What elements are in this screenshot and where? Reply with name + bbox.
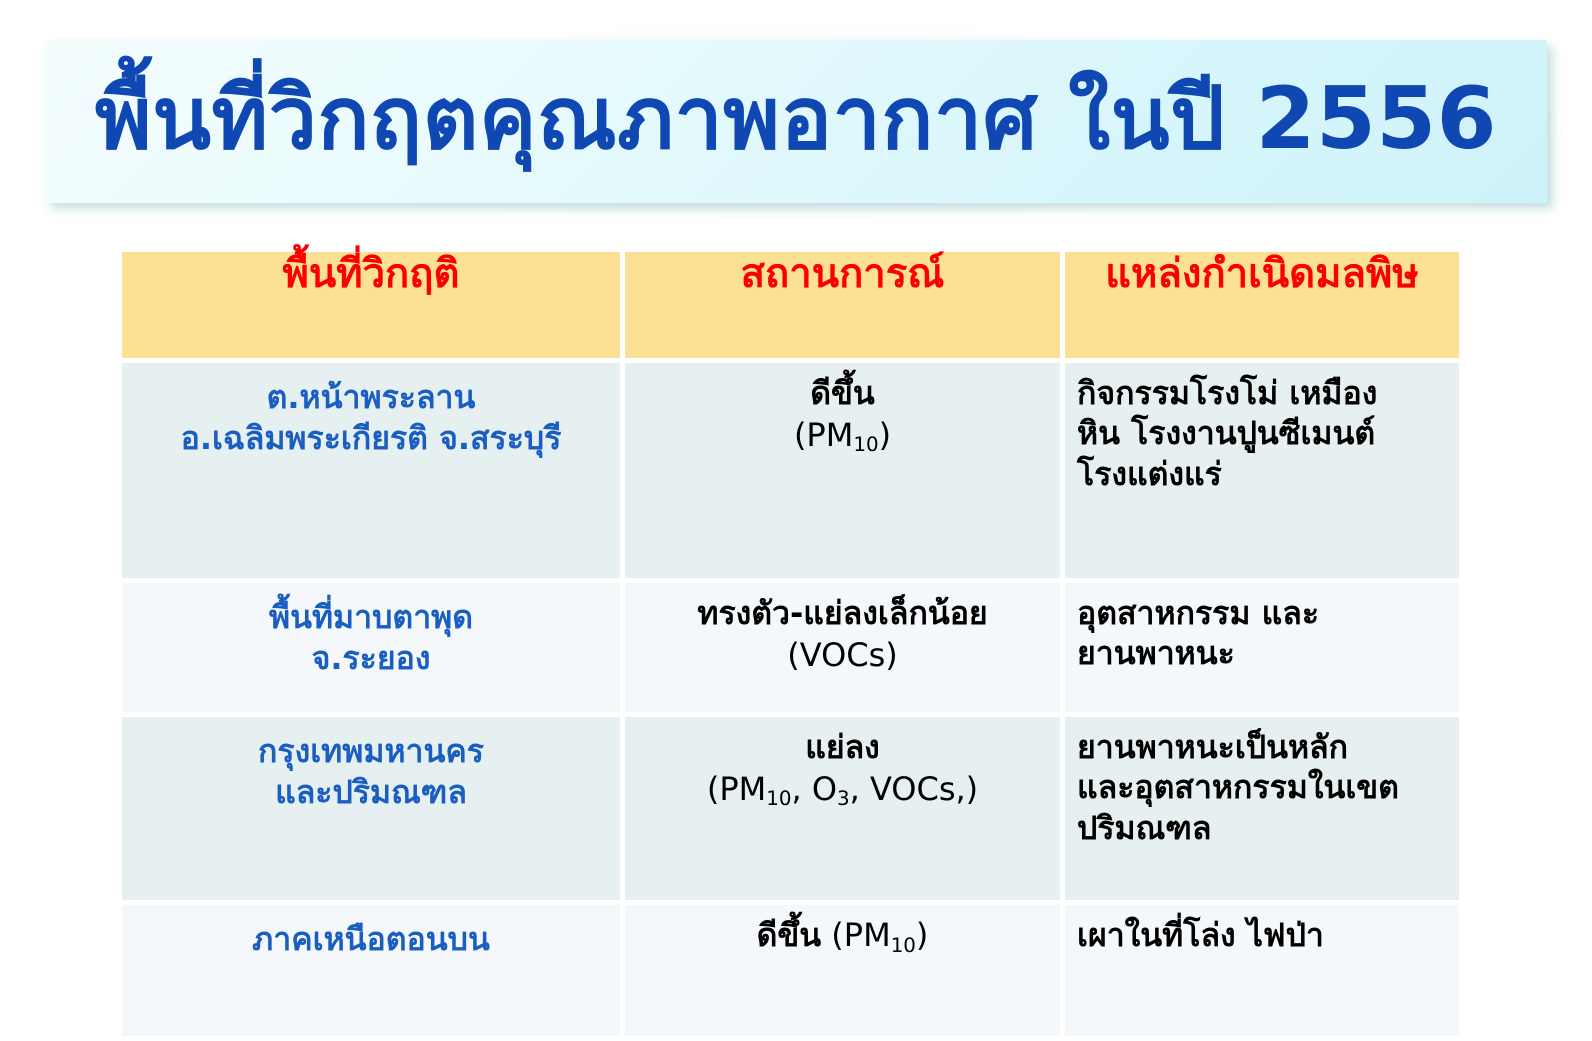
cell-area: กรุงเทพมหานคร และปริมณฑล (122, 717, 625, 905)
status-pollutant: (PM10) (821, 916, 928, 954)
cell-source: กิจกรรมโรงโม่ เหมือง หิน โรงงานปูนซีเมนต… (1065, 363, 1459, 583)
column-header-source: แหล่งกำเนิดมลพิษ (1065, 252, 1459, 363)
table-row: ต.หน้าพระลาน อ.เฉลิมพระเกียรติ จ.สระบุรี… (122, 363, 1459, 583)
pollutant-suffix: ) (879, 416, 891, 454)
pollutant-suffix: , O (791, 770, 837, 808)
page-title: พื้นที่วิกฤตคุณภาพอากาศ ในปี 2556 (95, 76, 1497, 168)
column-header-area-label: พื้นที่วิกฤติ (122, 252, 620, 296)
status-text: แย่ลง (PM10, O3, VOCs,) (625, 717, 1060, 810)
cell-status: ดีขึ้น (PM10) (625, 363, 1065, 583)
cell-area: ต.หน้าพระลาน อ.เฉลิมพระเกียรติ จ.สระบุรี (122, 363, 625, 583)
area-text: ต.หน้าพระลาน อ.เฉลิมพระเกียรติ จ.สระบุรี (122, 363, 620, 459)
table-row: พื้นที่มาบตาพุด จ.ระยอง ทรงตัว-แย่ลงเล็ก… (122, 583, 1459, 717)
column-header-area: พื้นที่วิกฤติ (122, 252, 625, 363)
source-line: และอุตสาหกรรมในเขต (1077, 767, 1447, 807)
pollutant-suffix: , VOCs,) (850, 770, 979, 808)
area-text: พื้นที่มาบตาพุด จ.ระยอง (122, 583, 620, 679)
area-line: พื้นที่มาบตาพุด (132, 597, 610, 638)
area-text: กรุงเทพมหานคร และปริมณฑล (122, 717, 620, 813)
cell-source: อุตสาหกรรม และ ยานพาหนะ (1065, 583, 1459, 717)
column-header-source-label: แหล่งกำเนิดมลพิษ (1065, 252, 1459, 296)
cell-area: พื้นที่มาบตาพุด จ.ระยอง (122, 583, 625, 717)
status-pollutant: (PM10) (635, 415, 1050, 457)
area-line: ต.หน้าพระลาน (132, 377, 610, 418)
cell-status: ดีขึ้น (PM10) (625, 905, 1065, 1041)
status-text: ดีขึ้น (PM10) (625, 363, 1060, 456)
cell-status: ทรงตัว-แย่ลงเล็กน้อย (VOCs) (625, 583, 1065, 717)
table-row: กรุงเทพมหานคร และปริมณฑล แย่ลง (PM10, O3… (122, 717, 1459, 905)
source-line: ยานพาหนะ (1077, 633, 1447, 673)
pollutant-subscript: 10 (766, 787, 791, 810)
source-text: กิจกรรมโรงโม่ เหมือง หิน โรงงานปูนซีเมนต… (1065, 363, 1459, 494)
table-header-row: พื้นที่วิกฤติ สถานการณ์ แหล่งกำเนิดมลพิษ (122, 252, 1459, 363)
source-text: อุตสาหกรรม และ ยานพาหนะ (1065, 583, 1459, 674)
area-line: ภาคเหนือตอนบน (132, 919, 610, 960)
pollutant-suffix: ) (916, 916, 928, 954)
column-header-status: สถานการณ์ (625, 252, 1065, 363)
cell-source: เผาในที่โล่ง ไฟป่า (1065, 905, 1459, 1041)
source-line: เผาในที่โล่ง ไฟป่า (1077, 915, 1447, 955)
area-line: กรุงเทพมหานคร (132, 731, 610, 772)
status-text: ทรงตัว-แย่ลงเล็กน้อย (VOCs) (625, 583, 1060, 676)
status-pollutant: (PM10, O3, VOCs,) (635, 769, 1050, 811)
pollutant-subscript: 10 (891, 934, 916, 957)
pollutant-prefix: (PM (821, 916, 891, 954)
pollutant-subscript: 10 (853, 433, 878, 456)
area-line: จ.ระยอง (132, 638, 610, 679)
area-line: อ.เฉลิมพระเกียรติ จ.สระบุรี (132, 418, 610, 459)
source-line: โรงแต่งแร่ (1077, 454, 1447, 494)
source-line: อุตสาหกรรม และ (1077, 593, 1447, 633)
table-body: ต.หน้าพระลาน อ.เฉลิมพระเกียรติ จ.สระบุรี… (122, 363, 1459, 1041)
source-line: กิจกรรมโรงโม่ เหมือง (1077, 373, 1447, 413)
title-box: พื้นที่วิกฤตคุณภาพอากาศ ในปี 2556 (45, 40, 1547, 203)
status-trend: ทรงตัว-แย่ลงเล็กน้อย (635, 593, 1050, 635)
cell-status: แย่ลง (PM10, O3, VOCs,) (625, 717, 1065, 905)
status-trend: ดีขึ้น (635, 373, 1050, 415)
column-header-status-label: สถานการณ์ (625, 252, 1060, 296)
area-line: และปริมณฑล (132, 772, 610, 813)
source-line: ปริมณฑล (1077, 808, 1447, 848)
source-text: ยานพาหนะเป็นหลัก และอุตสาหกรรมในเขต ปริม… (1065, 717, 1459, 848)
status-text: ดีขึ้น (PM10) (625, 905, 1060, 957)
cell-source: ยานพาหนะเป็นหลัก และอุตสาหกรรมในเขต ปริม… (1065, 717, 1459, 905)
table-header: พื้นที่วิกฤติ สถานการณ์ แหล่งกำเนิดมลพิษ (122, 252, 1459, 363)
area-text: ภาคเหนือตอนบน (122, 905, 620, 960)
table-row: ภาคเหนือตอนบน ดีขึ้น (PM10) เผาในที่โล่ง… (122, 905, 1459, 1041)
slide-title-banner: พื้นที่วิกฤตคุณภาพอากาศ ในปี 2556 (45, 40, 1547, 203)
status-trend: ดีขึ้น (757, 916, 822, 954)
cell-area: ภาคเหนือตอนบน (122, 905, 625, 1041)
source-text: เผาในที่โล่ง ไฟป่า (1065, 905, 1459, 955)
pollutant-prefix: (VOCs) (787, 636, 898, 674)
pollutant-subscript: 3 (837, 787, 850, 810)
pollutant-prefix: (PM (794, 416, 853, 454)
source-line: หิน โรงงานปูนซีเมนต์ (1077, 413, 1447, 453)
status-trend: แย่ลง (635, 727, 1050, 769)
pollutant-prefix: (PM (707, 770, 766, 808)
status-pollutant: (VOCs) (635, 635, 1050, 677)
source-line: ยานพาหนะเป็นหลัก (1077, 727, 1447, 767)
air-quality-crisis-table: พื้นที่วิกฤติ สถานการณ์ แหล่งกำเนิดมลพิษ… (122, 252, 1459, 1041)
